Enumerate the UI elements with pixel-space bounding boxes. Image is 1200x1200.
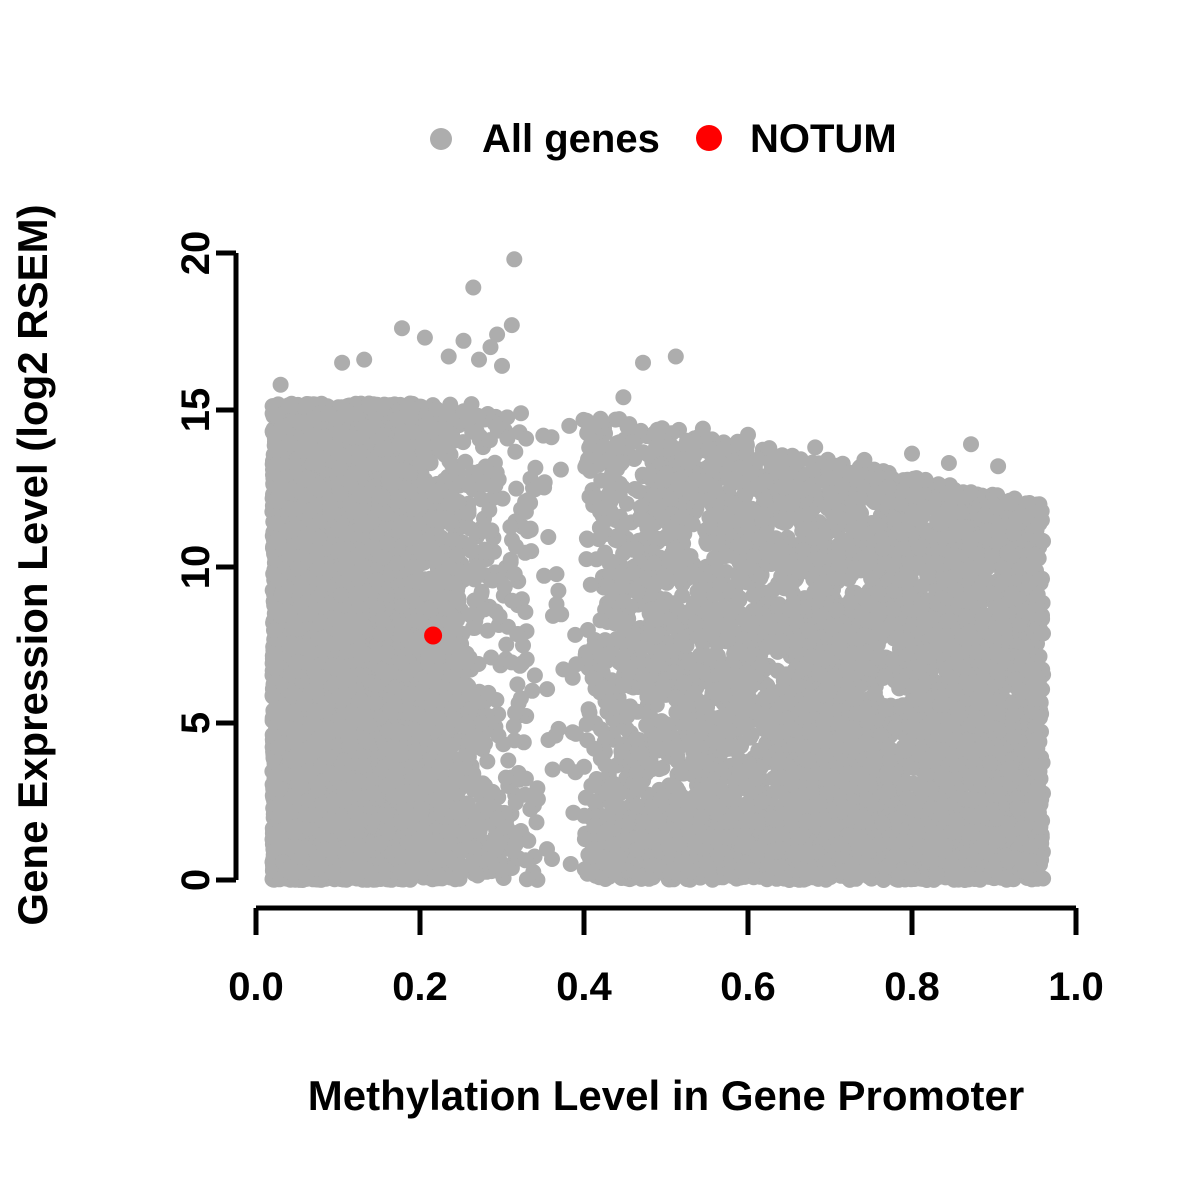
- data-point: [508, 481, 524, 497]
- data-point: [479, 753, 495, 769]
- data-point: [550, 583, 566, 599]
- data-point: [561, 418, 577, 434]
- data-point: [539, 681, 555, 697]
- scatter-plot-figure: 20 15 10 5 0 0.0 0.2 0.4 0.6 0.8 1.0 Met…: [0, 0, 1200, 1200]
- data-point: [483, 650, 499, 666]
